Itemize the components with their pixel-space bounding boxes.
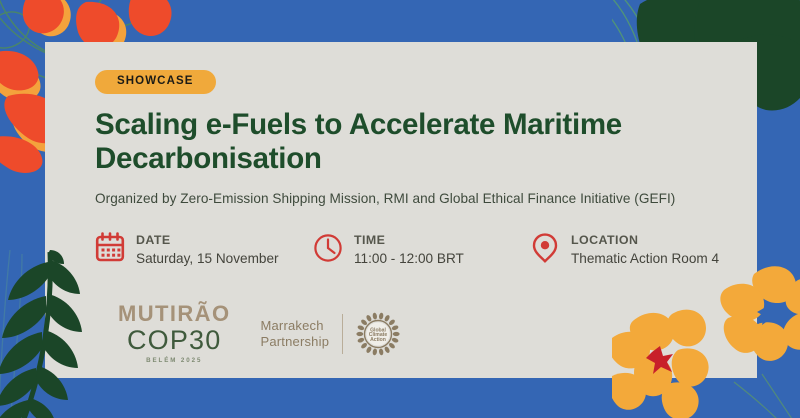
info-label-time: TIME bbox=[354, 233, 464, 247]
calendar-icon bbox=[95, 232, 125, 264]
cop30-wordmark: COP30 bbox=[118, 327, 230, 354]
info-value-time: 11:00 - 12:00 BRT bbox=[354, 250, 464, 268]
belem-2025-text: BELÉM 2025 bbox=[118, 358, 230, 364]
info-item-time: TIME 11:00 - 12:00 BRT bbox=[313, 232, 530, 269]
page-title: Scaling e-Fuels to Accelerate Maritime D… bbox=[95, 108, 695, 178]
card-content: SHOWCASE Scaling e-Fuels to Accelerate M… bbox=[95, 70, 765, 268]
mutirao-cop30-logo: MUTIRÃO COP30 BELÉM 2025 bbox=[118, 303, 230, 364]
info-item-location: LOCATION Thematic Action Room 4 bbox=[530, 232, 719, 269]
emblem-line-3: Action bbox=[370, 337, 386, 343]
logo-strip: MUTIRÃO COP30 BELÉM 2025 Marrakech Partn… bbox=[118, 303, 402, 364]
event-banner: SHOWCASE Scaling e-Fuels to Accelerate M… bbox=[0, 0, 800, 418]
mutirao-wordmark: MUTIRÃO bbox=[118, 303, 230, 325]
info-item-date: DATE Saturday, 15 November bbox=[95, 232, 313, 269]
marrakech-line-2: Partnership bbox=[260, 334, 329, 350]
map-pin-icon bbox=[530, 232, 560, 264]
clock-icon bbox=[313, 232, 343, 264]
logo-divider bbox=[342, 314, 343, 354]
info-label-location: LOCATION bbox=[571, 233, 719, 247]
info-value-location: Thematic Action Room 4 bbox=[571, 250, 719, 268]
marrakech-partnership-text: Marrakech Partnership bbox=[260, 318, 342, 350]
marrakech-partnership-logo: Marrakech Partnership Global Climate Act… bbox=[260, 310, 402, 358]
info-value-date: Saturday, 15 November bbox=[136, 250, 279, 268]
showcase-badge: SHOWCASE bbox=[95, 70, 216, 94]
event-info-row: DATE Saturday, 15 November TIME 11:00 - … bbox=[95, 232, 765, 269]
global-climate-action-emblem: Global Climate Action bbox=[354, 310, 402, 358]
organizer-text: Organized by Zero-Emission Shipping Miss… bbox=[95, 190, 765, 208]
marrakech-line-1: Marrakech bbox=[260, 318, 329, 334]
info-label-date: DATE bbox=[136, 233, 279, 247]
